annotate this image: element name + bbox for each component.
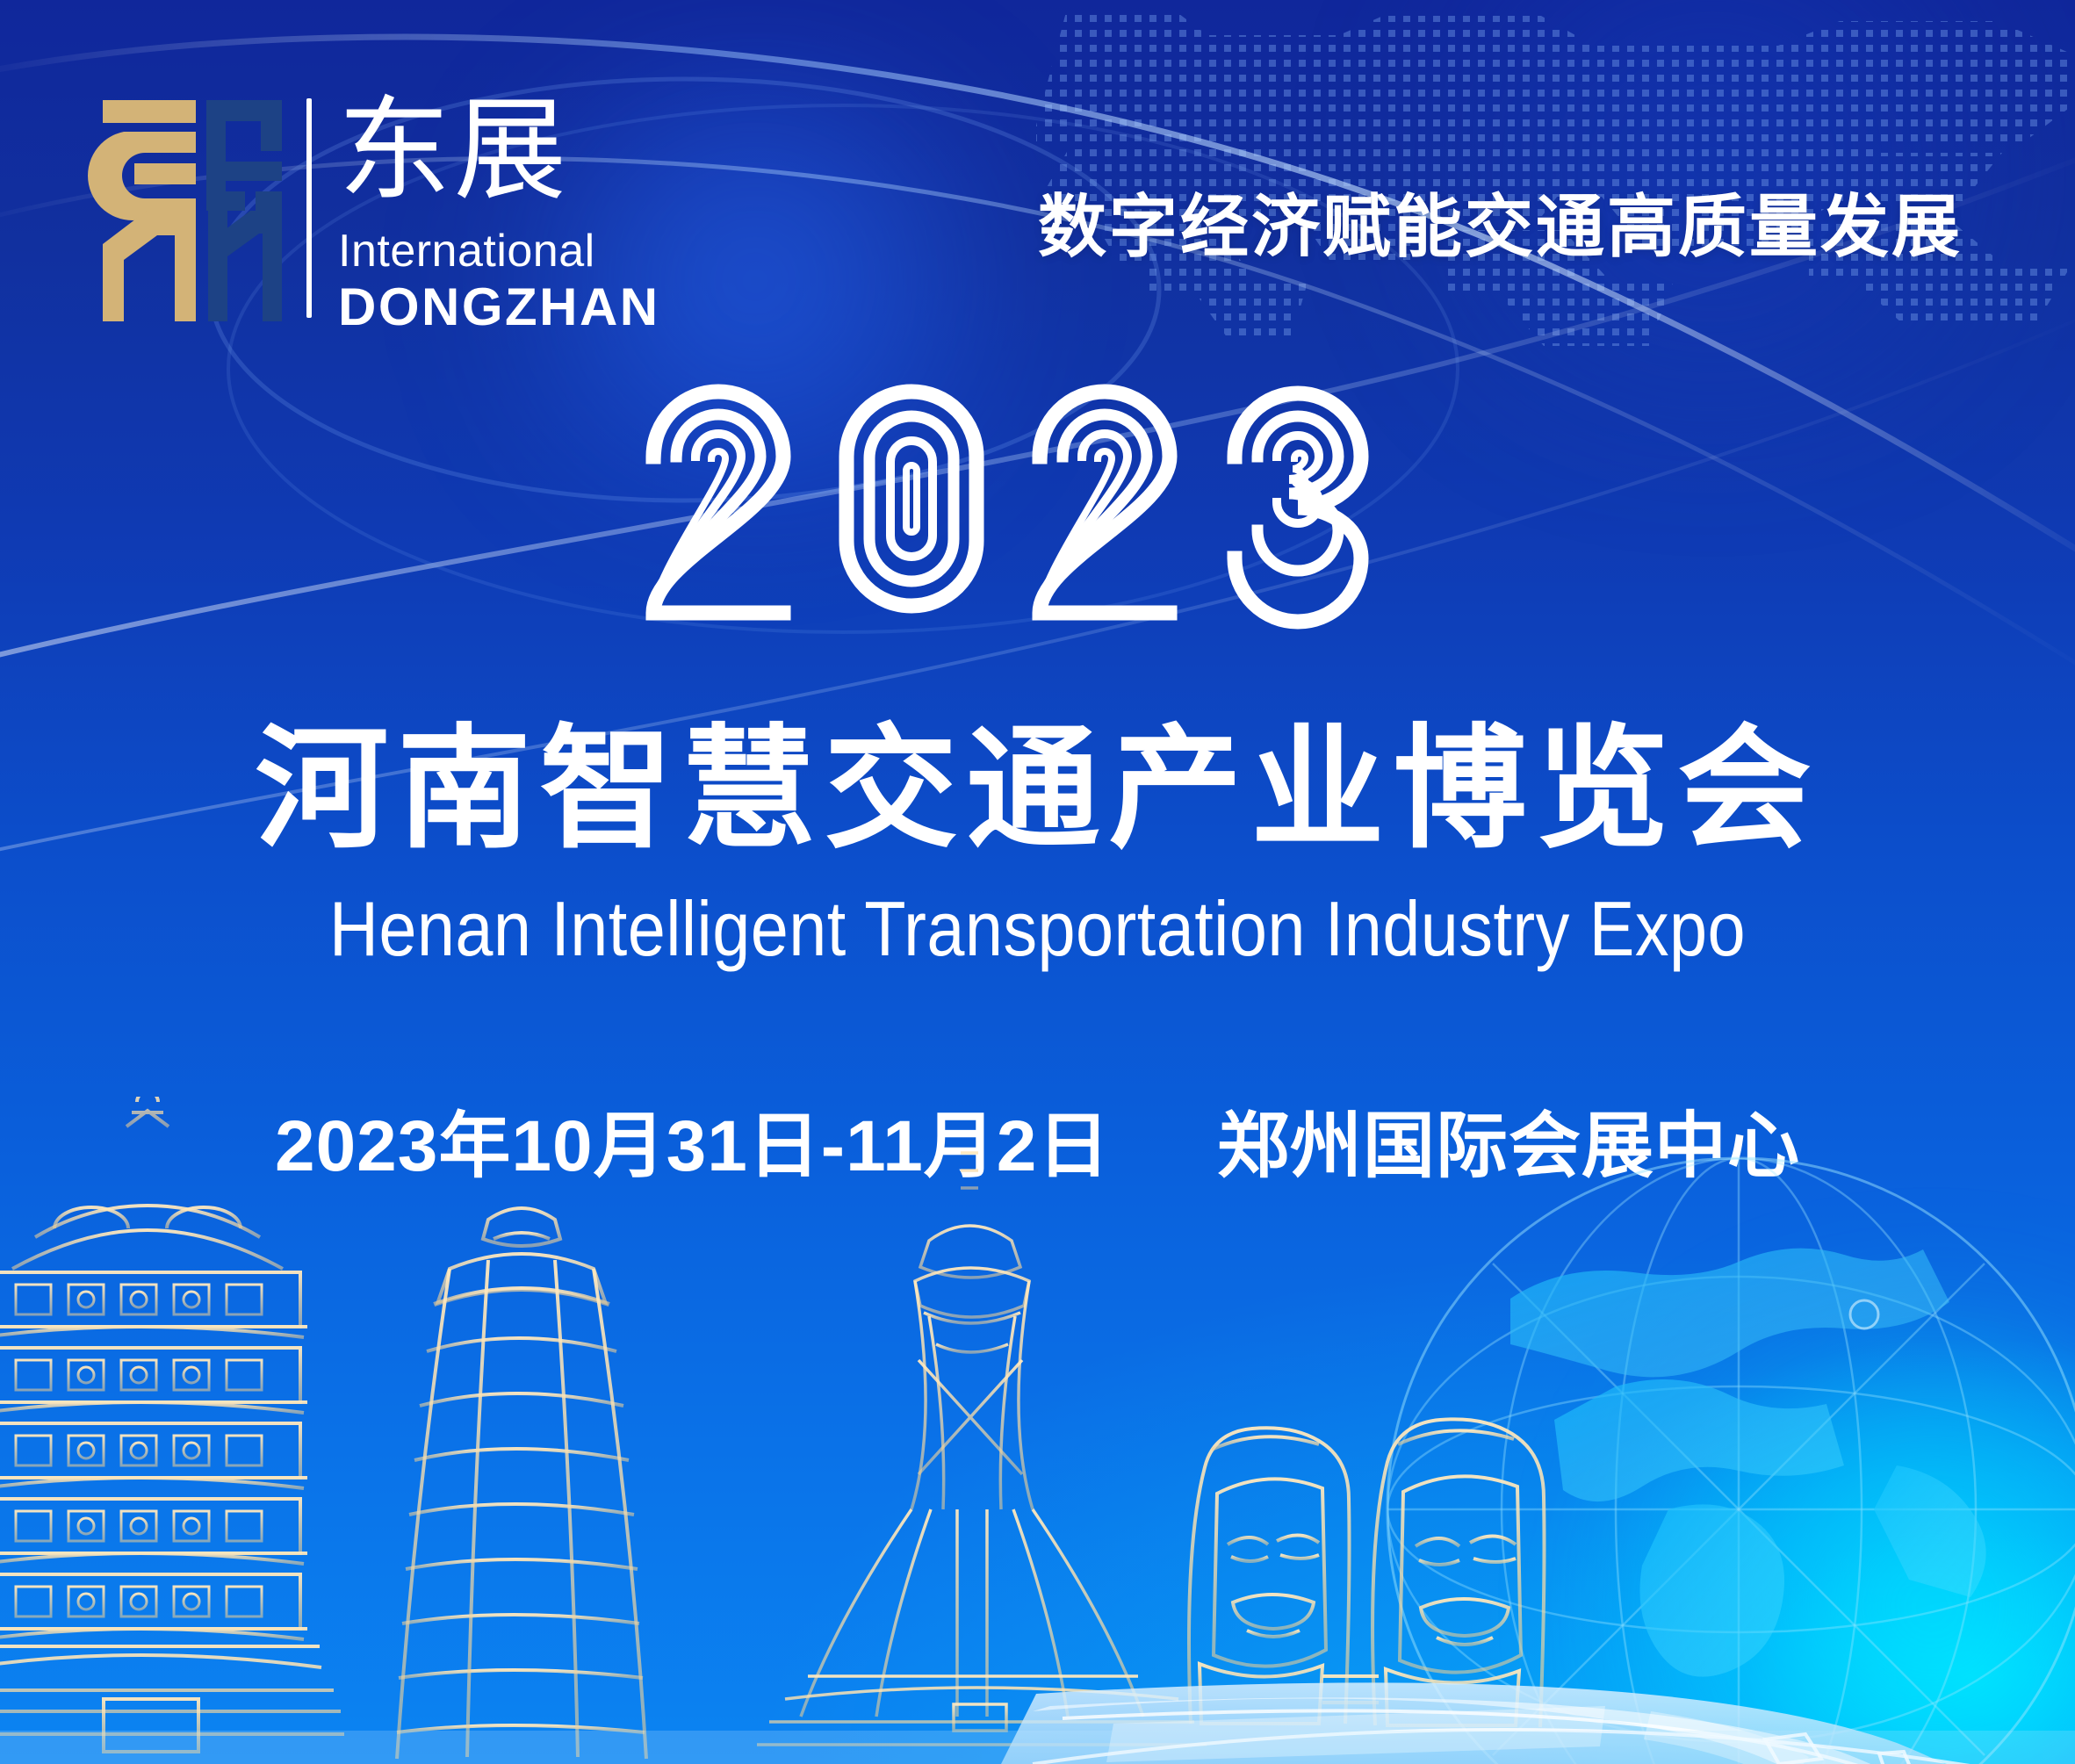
yan-huang-emperors-statue-icon [1189,1419,1545,1727]
page-title-cn: 河南智慧交通产业博览会 [0,722,2075,858]
logo-name-cn: 东展 [338,95,660,218]
year-graphic [0,355,2075,644]
logo-divider [306,98,312,318]
page-title-en-wrap: Henan Intelligent Transportation Industr… [0,889,2075,969]
brand-logo[interactable]: 东展 International DONGZHAN [83,95,660,334]
logo-name-international: International [338,228,660,274]
year-2023-icon [634,355,1442,644]
dongzhan-logo-mark-icon [83,95,287,321]
zhengzhou-corn-tower-icon [397,1208,646,1759]
globe-icon [1387,1158,2075,1764]
logo-name-pinyin: DONGZHAN [338,281,660,334]
zhongyuan-tv-tower-icon [757,1120,1207,1745]
expo-poster: 东展 International DONGZHAN 数字经济赋能交通高质量发展 [0,0,2075,1764]
erqi-memorial-tower-icon [0,1097,344,1752]
zhengzhou-skyline-illustration [0,1097,2075,1764]
event-slogan: 数字经济赋能交通高质量发展 [1038,172,1963,270]
page-title-en: Henan Intelligent Transportation Industr… [329,889,1746,969]
